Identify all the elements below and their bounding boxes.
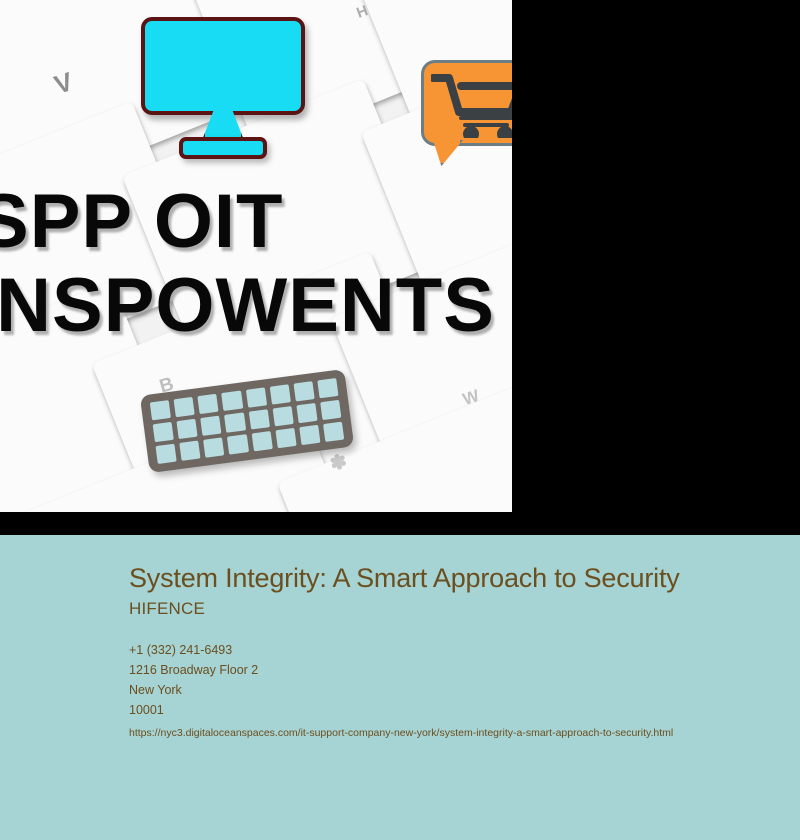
- page-root: V H B W ✽ SPP OIT INSPOWENTS: [0, 0, 800, 840]
- keyboard-key: [248, 409, 269, 429]
- keyboard-key: [251, 431, 272, 451]
- keyboard-key: [156, 444, 177, 464]
- keyboard-key: [269, 384, 290, 404]
- organization-name: HIFENCE: [129, 599, 800, 619]
- keyboard-key: [320, 400, 341, 420]
- keyboard-key: [203, 437, 224, 457]
- keyboard-key: [317, 378, 338, 398]
- keyboard-key: [227, 434, 248, 454]
- contact-phone: +1 (332) 241-6493: [129, 640, 800, 660]
- page-title: System Integrity: A Smart Approach to Se…: [129, 563, 701, 593]
- cart-glyph: [431, 72, 512, 138]
- keyboard-key: [179, 441, 200, 461]
- keyboard-key: [177, 419, 198, 439]
- hero-image: V H B W ✽ SPP OIT INSPOWENTS: [0, 0, 512, 512]
- contact-city: New York: [129, 680, 800, 700]
- keyboard-key: [272, 406, 293, 426]
- keyboard-key: [224, 412, 245, 432]
- contact-postal-code: 10001: [129, 700, 800, 720]
- monitor-screen: [141, 17, 305, 115]
- contact-street: 1216 Broadway Floor 2: [129, 660, 800, 680]
- keyboard-key: [293, 381, 314, 401]
- keyboard-key: [245, 387, 266, 407]
- keyboard-key: [198, 394, 219, 414]
- keyboard-key: [296, 403, 317, 423]
- keyboard-key: [150, 400, 171, 420]
- monitor-icon: [137, 17, 309, 159]
- hero-headline-line-2: INSPOWENTS: [0, 262, 495, 349]
- monitor-base: [179, 137, 267, 159]
- content-panel: System Integrity: A Smart Approach to Se…: [0, 535, 800, 840]
- source-url-link[interactable]: https://nyc3.digitaloceanspaces.com/it-s…: [129, 726, 800, 740]
- hero-headline-line-1: SPP OIT: [0, 178, 283, 265]
- keyboard-key: [222, 391, 243, 411]
- contact-block: +1 (332) 241-6493 1216 Broadway Floor 2 …: [129, 640, 800, 720]
- keyboard-key: [174, 397, 195, 417]
- keyboard-key: [200, 416, 221, 436]
- speech-bubble-tail: [433, 140, 463, 166]
- shopping-cart-speech-bubble-icon: [421, 60, 512, 168]
- keyboard-key: [275, 428, 296, 448]
- keyboard-key: [323, 422, 344, 442]
- keyboard-key: [299, 425, 320, 445]
- keyboard-key: [153, 422, 174, 442]
- content-inner: System Integrity: A Smart Approach to Se…: [0, 535, 800, 740]
